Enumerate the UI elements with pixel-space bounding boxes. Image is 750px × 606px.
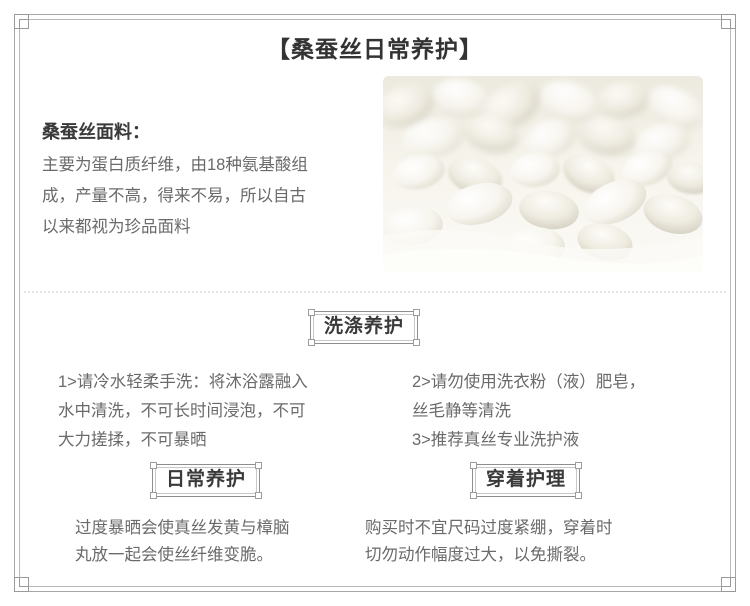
corner-ornament-bottom-left bbox=[14, 570, 36, 592]
fabric-intro-body: 主要为蛋白质纤维，由18种氨基酸组 成，产量不高，得来不易，所以自古 以来都视为… bbox=[42, 150, 372, 243]
section-divider bbox=[24, 291, 726, 293]
care-instructions-page: 【桑蚕丝日常养护】 bbox=[0, 0, 750, 606]
daily-care-line-2: 丸放一起会使丝纤维变脆。 bbox=[75, 546, 273, 564]
wash-left-line-2: 水中清洗，不可长时间浸泡，不可 bbox=[58, 402, 306, 420]
wash-right-line-2: 丝毛静等清洗 bbox=[412, 402, 511, 420]
wear-care-line-2: 切勿动作幅度过大，以免撕裂。 bbox=[365, 546, 596, 564]
section-heading-wash-label: 洗涤养护 bbox=[324, 315, 404, 337]
section-heading-daily-label: 日常养护 bbox=[166, 468, 246, 490]
wear-care-line-1: 购买时不宜尺码过度紧绷，穿着时 bbox=[365, 519, 613, 537]
wash-care-left-column: 1>请冷水轻柔手洗：将沐浴露融入 水中清洗，不可长时间浸泡，不可 大力搓揉，不可… bbox=[58, 368, 368, 455]
wash-left-line-3: 大力搓揉，不可暴晒 bbox=[58, 431, 207, 449]
section-heading-daily: 日常养护 bbox=[152, 464, 260, 497]
intro-line-1: 主要为蛋白质纤维，由18种氨基酸组 bbox=[42, 156, 308, 174]
daily-care-text: 过度暴晒会使真丝发黄与樟脑 丸放一起会使丝纤维变脆。 bbox=[75, 515, 375, 569]
fabric-intro-heading: 桑蚕丝面料： bbox=[42, 118, 372, 144]
section-heading-wash: 洗涤养护 bbox=[310, 311, 418, 344]
intro-line-3: 以来都视为珍品面料 bbox=[42, 218, 191, 236]
wash-right-line-3: 3>推荐真丝专业洗护液 bbox=[412, 431, 579, 449]
daily-care-line-1: 过度暴晒会使真丝发黄与樟脑 bbox=[75, 519, 290, 537]
wash-left-line-1: 1>请冷水轻柔手洗：将沐浴露融入 bbox=[58, 373, 308, 391]
page-title: 【桑蚕丝日常养护】 bbox=[0, 30, 750, 64]
fabric-intro-block: 桑蚕丝面料： 主要为蛋白质纤维，由18种氨基酸组 成，产量不高，得来不易，所以自… bbox=[42, 118, 372, 243]
corner-ornament-bottom-right bbox=[714, 570, 736, 592]
section-heading-wear: 穿着护理 bbox=[472, 464, 580, 497]
wash-care-right-column: 2>请勿使用洗衣粉（液）肥皂， 丝毛静等清洗 3>推荐真丝专业洗护液 bbox=[412, 368, 722, 455]
wash-right-line-1: 2>请勿使用洗衣粉（液）肥皂， bbox=[412, 373, 645, 391]
wear-care-text: 购买时不宜尺码过度紧绷，穿着时 切勿动作幅度过大，以免撕裂。 bbox=[365, 515, 675, 569]
cocoons-illustration bbox=[383, 76, 703, 272]
silk-cocoons-photo bbox=[383, 76, 703, 272]
intro-line-2: 成，产量不高，得来不易，所以自古 bbox=[42, 187, 306, 205]
section-heading-wear-label: 穿着护理 bbox=[486, 468, 566, 490]
